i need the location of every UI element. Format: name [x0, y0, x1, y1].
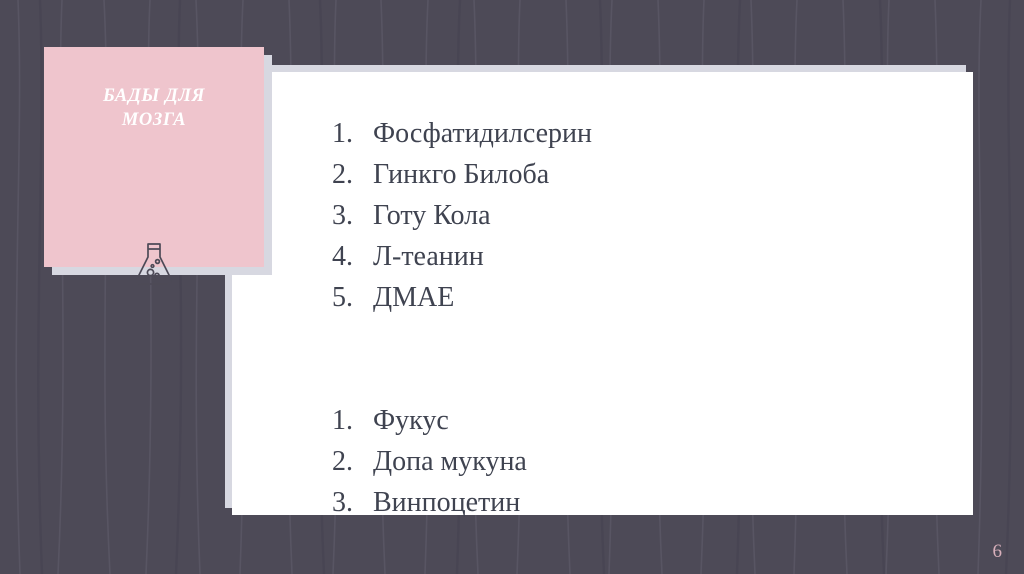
list-item-label: Фосфатидилсерин [373, 113, 592, 154]
title-line-1: БАДЫ ДЛЯ [44, 84, 264, 108]
list-item-number: 2. [332, 441, 373, 482]
list-item: 2. Допа мукуна [332, 441, 932, 482]
list-item: 5. ДМАЕ [332, 277, 932, 318]
list-item: 2. Гинкго Билоба [332, 154, 932, 195]
supplement-lists: 1. Фосфатидилсерин 2. Гинкго Билоба 3. Г… [332, 113, 932, 523]
list-item-number: 5. [332, 277, 373, 318]
list-item-label: Фукус [373, 400, 449, 441]
list-item-number: 2. [332, 154, 373, 195]
title-card: БАДЫ ДЛЯ МОЗГА [44, 47, 264, 267]
list-item: 3. Винпоцетин [332, 482, 932, 523]
title-card-title: БАДЫ ДЛЯ МОЗГА [44, 84, 264, 132]
list-item-label: ДМАЕ [373, 277, 454, 318]
title-line-2: МОЗГА [44, 108, 264, 132]
supplement-list-secondary: 1. Фукус 2. Допа мукуна 3. Винпоцетин [332, 400, 932, 523]
list-item: 1. Фосфатидилсерин [332, 113, 932, 154]
list-item: 1. Фукус [332, 400, 932, 441]
list-item-label: Допа мукуна [373, 441, 527, 482]
list-item-label: Готу Кола [373, 195, 491, 236]
flask-icon-wrapper [44, 240, 264, 288]
supplement-list-primary: 1. Фосфатидилсерин 2. Гинкго Билоба 3. Г… [332, 113, 932, 318]
list-item-number: 1. [332, 113, 373, 154]
list-item-label: Л-теанин [373, 236, 484, 277]
list-item-label: Винпоцетин [373, 482, 520, 523]
flask-icon [133, 240, 175, 288]
list-item-label: Гинкго Билоба [373, 154, 549, 195]
list-separator-gap [332, 318, 932, 400]
list-item: 4. Л-теанин [332, 236, 932, 277]
slide-canvas: БАДЫ ДЛЯ МОЗГА 1. Фосфатидилсерин 2. [0, 0, 1024, 574]
list-item-number: 1. [332, 400, 373, 441]
list-item: 3. Готу Кола [332, 195, 932, 236]
list-item-number: 3. [332, 482, 373, 523]
list-item-number: 4. [332, 236, 373, 277]
list-item-number: 3. [332, 195, 373, 236]
page-number: 6 [993, 542, 1003, 562]
